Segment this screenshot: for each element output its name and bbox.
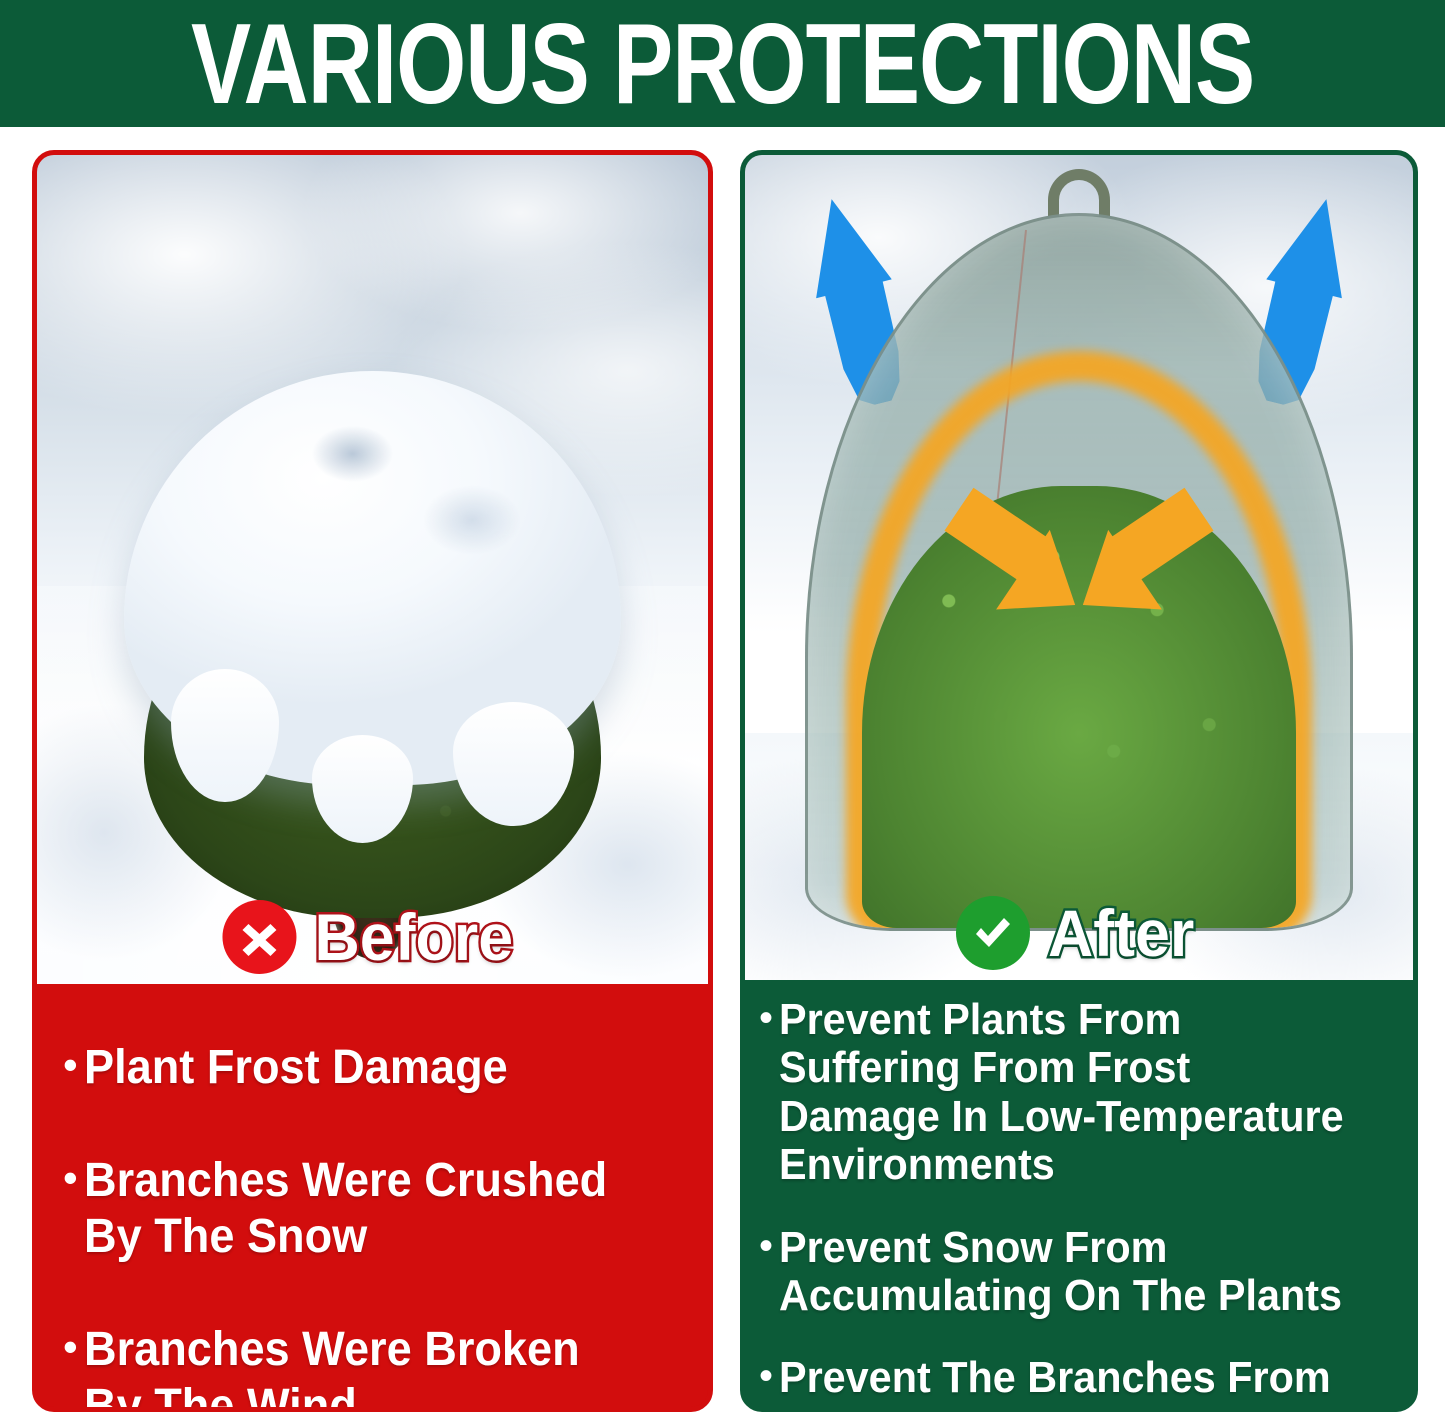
panel-after: After • Prevent Plants From Suffering Fr… xyxy=(740,150,1418,1412)
protected-shrub xyxy=(862,486,1295,927)
infographic-root: VARIOUS PROTECTIONS Before xyxy=(0,0,1445,1423)
list-item-label: Branches Were Broken By The Wind xyxy=(84,1322,643,1412)
list-item-label: Prevent Plants From Suffering From Frost… xyxy=(779,996,1360,1190)
list-item: • Branches Were Broken By The Wind xyxy=(63,1322,678,1412)
list-item-label: Branches Were Crushed By The Snow xyxy=(84,1153,643,1266)
bullet-dot-icon: • xyxy=(759,1224,773,1266)
after-badge: After xyxy=(956,896,1202,970)
after-photo: After xyxy=(745,155,1413,980)
check-icon xyxy=(956,896,1030,970)
cross-icon xyxy=(222,900,296,974)
header-banner: VARIOUS PROTECTIONS xyxy=(0,0,1445,127)
list-item: • Prevent Plants From Suffering From Fro… xyxy=(759,996,1397,1190)
after-badge-label: After xyxy=(1048,900,1194,966)
bullet-dot-icon: • xyxy=(63,1040,78,1086)
bullet-dot-icon: • xyxy=(63,1322,78,1368)
list-item: • Branches Were Crushed By The Snow xyxy=(63,1153,678,1266)
list-item: • Prevent The Branches From Being Blown … xyxy=(759,1354,1397,1412)
before-badge-label: Before xyxy=(314,904,513,970)
before-badge: Before xyxy=(222,900,523,974)
before-bullet-list: • Plant Frost Damage • Branches Were Cru… xyxy=(37,984,708,1412)
list-item: • Plant Frost Damage xyxy=(63,1040,678,1097)
after-bullet-list: • Prevent Plants From Suffering From Fro… xyxy=(745,980,1413,1412)
list-item-label: Prevent The Branches From Being Blown Of… xyxy=(779,1354,1360,1412)
page-title: VARIOUS PROTECTIONS xyxy=(191,6,1254,120)
list-item-label: Prevent Snow From Accumulating On The Pl… xyxy=(779,1224,1360,1321)
bullet-dot-icon: • xyxy=(759,1354,773,1396)
bullet-dot-icon: • xyxy=(759,996,773,1038)
panel-before: Before • Plant Frost Damage • Branches W… xyxy=(32,150,713,1412)
before-photo: Before xyxy=(37,155,708,984)
bullet-dot-icon: • xyxy=(63,1153,78,1199)
list-item: • Prevent Snow From Accumulating On The … xyxy=(759,1224,1397,1321)
list-item-label: Plant Frost Damage xyxy=(84,1040,508,1097)
